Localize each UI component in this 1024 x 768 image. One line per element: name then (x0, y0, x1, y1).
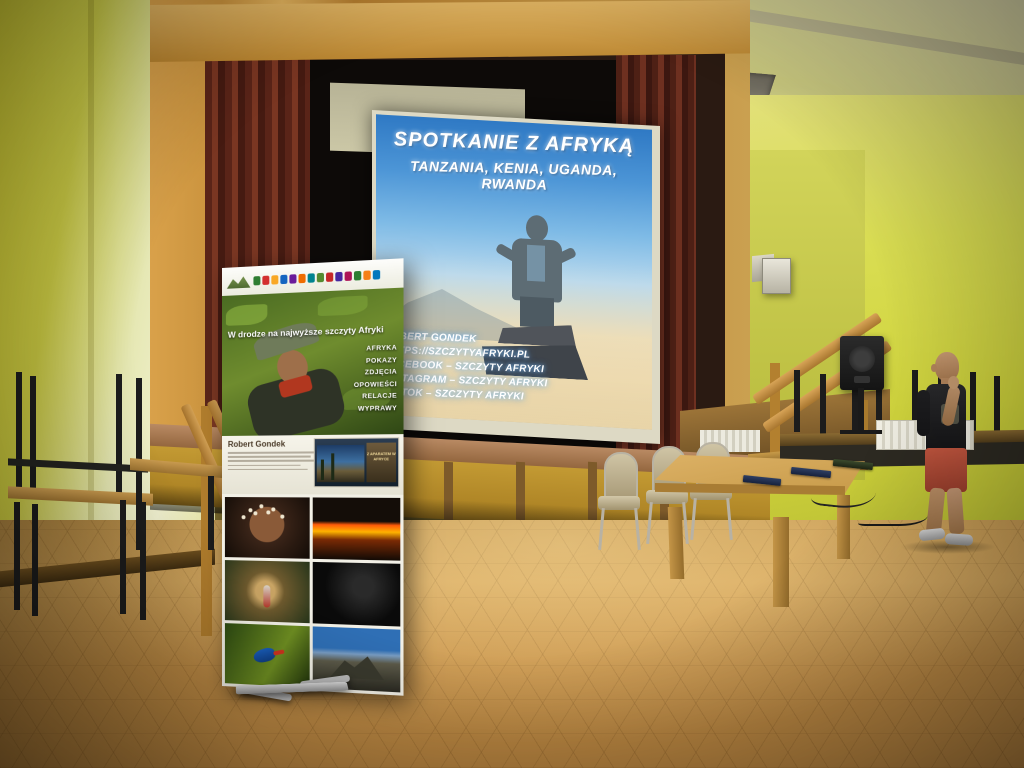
slide-subtitle: TANZANIA, KENIA, UGANDA, RWANDA (376, 157, 652, 195)
banner-cap-icon (298, 273, 305, 283)
electrical-box (762, 258, 791, 294)
standing-person (915, 352, 977, 548)
slide-contact-lines: ROBERT GONDEK HTTPS://SZCZYTYAFRYKI.PL F… (384, 327, 652, 412)
banner-cap-icon (308, 273, 315, 283)
banner-keyword-list: AFRYKA POKAZY ZDJĘCIA OPOWIEŚCI RELACJE … (347, 342, 397, 415)
banner-book-badge: Z APARATEM W AFRYCE (366, 443, 396, 483)
banner-keyword: AFRYKA (347, 342, 397, 356)
banner-cap-icon (317, 272, 324, 282)
banner-bio-section: Robert Gondek Z APARATEM W AFRYCE (222, 434, 404, 495)
banner-cap-icon (326, 272, 333, 282)
banner-cap-icon (262, 275, 269, 284)
stacked-table-left-2 (130, 430, 225, 570)
slide-title: SPOTKANIE Z AFRYKĄ (376, 128, 652, 159)
banner-cap-icon (335, 271, 342, 281)
banner-cap-icon (271, 275, 278, 284)
pa-speaker (840, 336, 884, 390)
banner-book-badge-text: Z APARATEM W AFRYCE (366, 443, 396, 463)
banner-cap-icon (373, 269, 380, 279)
banner-cap-icon (345, 271, 352, 281)
photo-girl-with-beads (225, 497, 309, 559)
banner-keyword: WYPRAWY (347, 402, 397, 415)
banner-cap-icon (354, 270, 361, 280)
photo-baboon (225, 560, 309, 623)
banner-icon-strip (253, 268, 398, 284)
photo-scene: SPOTKANIE Z AFRYKĄ TANZANIA, KENIA, UGAN… (0, 0, 1024, 768)
rollup-banner: W drodze na najwyższe szczyty Afryki AFR… (222, 258, 404, 695)
photo-night-dark (312, 562, 400, 627)
banner-book-cover: Z APARATEM W AFRYCE (314, 437, 399, 487)
banner-cap-icon (280, 274, 287, 283)
chair (596, 452, 642, 548)
speaker-stand-foot (840, 430, 882, 434)
banner-cap-icon (253, 276, 260, 285)
banner-hero-photo: W drodze na najwyższe szczyty Afryki AFR… (222, 288, 404, 436)
banner-logo-icon (227, 274, 251, 289)
banner-keyword: ZDJĘCIA (347, 366, 397, 379)
projection-screen: SPOTKANIE Z AFRYKĄ TANZANIA, KENIA, UGAN… (376, 114, 652, 429)
photo-kingfisher (225, 623, 309, 687)
banner-keyword: OPOWIEŚCI (347, 378, 397, 391)
photo-lava-volcano (312, 497, 400, 560)
speaker-stand (858, 388, 864, 434)
banner-cap-icon (363, 270, 370, 280)
proscenium-top-molding (150, 0, 750, 62)
banner-cap-icon (289, 274, 296, 284)
banner-keyword: RELACJE (347, 390, 397, 403)
banner-photo-grid (222, 494, 404, 696)
